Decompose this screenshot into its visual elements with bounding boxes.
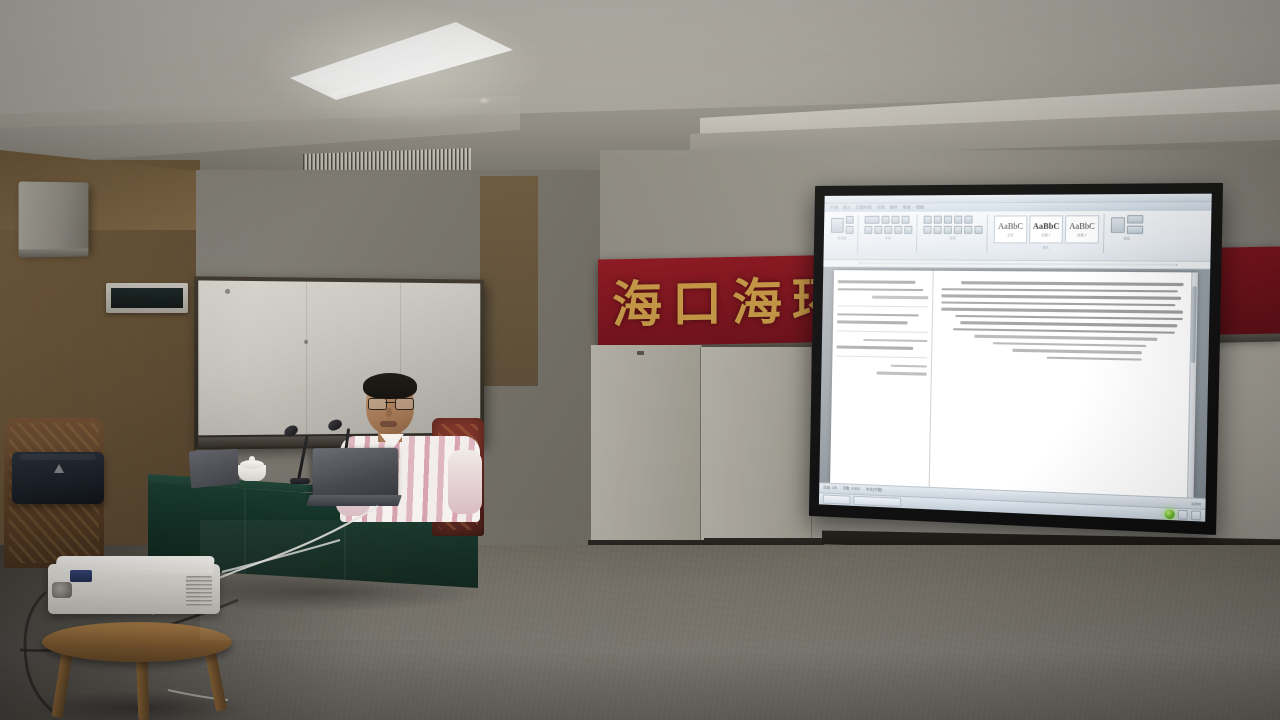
multilevel-list-button[interactable] xyxy=(944,216,952,224)
tray-icon[interactable] xyxy=(1191,510,1201,520)
wall-column xyxy=(480,176,538,386)
table-column-left xyxy=(830,270,934,487)
shading-button[interactable] xyxy=(974,226,982,234)
strikethrough-button[interactable] xyxy=(894,226,902,234)
tray-icon[interactable] xyxy=(1178,510,1188,520)
downlight-icon xyxy=(478,97,490,104)
conference-room-photo: 海口海环院环境 开始 插入 页面布局 引用 邮件 xyxy=(0,0,1280,720)
tab-page-layout[interactable]: 页面布局 xyxy=(856,205,872,211)
document-page[interactable] xyxy=(830,270,1198,498)
style-name-normal: 正文 xyxy=(1007,233,1013,237)
replace-button[interactable] xyxy=(1127,215,1143,223)
projector-cable-plug[interactable] xyxy=(70,570,92,582)
presenter-laptop-lid[interactable] xyxy=(313,448,399,498)
glasses-icon xyxy=(368,398,412,408)
shrink-font-button[interactable] xyxy=(901,216,909,224)
door-handle-icon[interactable] xyxy=(637,351,644,355)
tab-home[interactable]: 开始 xyxy=(830,205,838,211)
taskbar-start-button[interactable] xyxy=(823,495,851,505)
status-page: 页面: 1/8 xyxy=(823,485,837,491)
taskbar-word-item[interactable] xyxy=(853,496,901,507)
presenter-hair xyxy=(363,373,417,399)
wall-panel-screen xyxy=(111,288,183,308)
copy-button[interactable] xyxy=(846,226,854,234)
line-spacing-button[interactable] xyxy=(964,226,972,234)
cut-button[interactable] xyxy=(846,216,854,224)
grow-font-button[interactable] xyxy=(891,216,899,224)
status-zoom[interactable]: 100% xyxy=(1191,501,1201,506)
word-application: 开始 插入 页面布局 引用 邮件 审阅 视图 xyxy=(819,194,1212,522)
tab-review[interactable]: 审阅 xyxy=(903,205,911,211)
increase-indent-button[interactable] xyxy=(964,216,972,224)
ribbon-group-paragraph[interactable]: 段落 xyxy=(920,214,988,252)
presenter-nose xyxy=(386,408,392,417)
style-sample-heading-1: AaBbC xyxy=(1033,222,1060,230)
stool-leg xyxy=(136,652,149,720)
tab-view[interactable]: 视图 xyxy=(916,204,924,210)
wall-speaker-icon xyxy=(19,181,89,252)
align-right-button[interactable] xyxy=(944,226,952,234)
projector-vent-icon xyxy=(186,576,212,606)
ribbon-group-editing[interactable]: 编辑 xyxy=(1107,214,1148,253)
ribbon-group-clipboard[interactable]: 剪贴板 xyxy=(828,215,859,252)
projector[interactable] xyxy=(48,556,220,618)
tab-insert[interactable]: 插入 xyxy=(843,205,851,211)
word-document-canvas[interactable] xyxy=(819,267,1210,498)
presenter-mouth xyxy=(380,421,397,427)
select-button[interactable] xyxy=(1127,226,1143,234)
presenter-laptop-base[interactable] xyxy=(306,495,402,506)
style-heading-1[interactable]: AaBbC 标题 1 xyxy=(1029,215,1063,243)
bold-button[interactable] xyxy=(864,226,872,234)
second-laptop[interactable] xyxy=(189,449,240,489)
paste-button[interactable] xyxy=(831,217,844,232)
group-label-clipboard: 剪贴板 xyxy=(831,236,854,240)
door-left[interactable] xyxy=(590,345,702,545)
bag-logo-icon xyxy=(54,464,64,473)
style-normal[interactable]: AaBbC 正文 xyxy=(994,215,1028,243)
laptop-bag[interactable] xyxy=(12,452,104,504)
wooden-stool xyxy=(42,622,232,662)
style-name-heading-1: 标题 1 xyxy=(1041,233,1050,237)
ribbon-group-styles[interactable]: AaBbC 正文 AaBbC 标题 1 AaBbC 标题 2 xyxy=(990,214,1104,253)
tab-mailings[interactable]: 邮件 xyxy=(890,205,898,211)
style-sample-heading-2: AaBbC xyxy=(1069,222,1095,230)
status-language: 中文(中国) xyxy=(866,487,882,493)
group-label-paragraph: 段落 xyxy=(923,236,982,240)
ribbon-group-font[interactable]: 字体 xyxy=(861,215,918,253)
projection-screen: 开始 插入 页面布局 引用 邮件 审阅 视图 xyxy=(809,183,1223,535)
tab-references[interactable]: 引用 xyxy=(877,205,885,211)
status-wordcount: 字数: 4 802 xyxy=(842,486,860,492)
bullets-button[interactable] xyxy=(924,216,932,224)
font-family-select[interactable] xyxy=(865,216,880,224)
font-size-select[interactable] xyxy=(881,216,889,224)
numbering-button[interactable] xyxy=(934,216,942,224)
projector-lens-icon xyxy=(52,582,72,598)
style-sample-normal: AaBbC xyxy=(998,222,1023,230)
text-color-button[interactable] xyxy=(904,226,912,234)
screen-surface: 开始 插入 页面布局 引用 邮件 审阅 视图 xyxy=(819,194,1212,522)
table-column-right xyxy=(930,271,1198,498)
wall-control-panel[interactable] xyxy=(106,283,188,313)
door-right[interactable] xyxy=(700,347,812,543)
align-center-button[interactable] xyxy=(933,226,941,234)
decrease-indent-button[interactable] xyxy=(954,216,962,224)
group-label-styles: 样式 xyxy=(994,245,1099,249)
style-heading-2[interactable]: AaBbC 标题 2 xyxy=(1065,215,1100,243)
presenter-arm-right xyxy=(448,450,482,514)
underline-button[interactable] xyxy=(884,226,892,234)
align-left-button[interactable] xyxy=(923,226,931,234)
scrollbar-thumb[interactable] xyxy=(1191,286,1197,363)
find-button[interactable] xyxy=(1111,217,1125,233)
word-ribbon[interactable]: 剪贴板 xyxy=(823,211,1211,262)
teacup[interactable] xyxy=(238,459,266,481)
group-label-editing: 编辑 xyxy=(1111,236,1143,240)
group-label-font: 字体 xyxy=(864,236,912,240)
green-status-icon[interactable] xyxy=(1165,509,1175,519)
italic-button[interactable] xyxy=(874,226,882,234)
justify-button[interactable] xyxy=(954,226,962,234)
style-name-heading-2: 标题 2 xyxy=(1077,233,1086,237)
